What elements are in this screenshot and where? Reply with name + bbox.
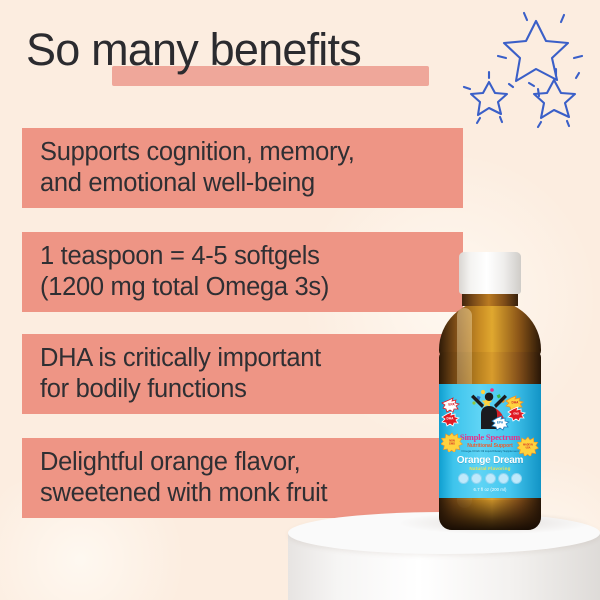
svg-text:EPA: EPA — [497, 421, 504, 425]
star-large-icon — [498, 13, 582, 96]
svg-text:DHA: DHA — [512, 401, 520, 405]
product-label: EPA DHA DHA OM3 — [439, 384, 541, 498]
benefit-band: 1 teaspoon = 4-5 softgels (1200 mg total… — [22, 232, 463, 312]
seal-non-gmo-icon: NON GMO — [441, 432, 463, 452]
svg-text:EPA: EPA — [448, 403, 455, 407]
star-small-right-icon — [529, 69, 579, 127]
svg-text:OM3: OM3 — [513, 412, 519, 416]
benefit-text: Delightful orange flavor, sweetened with… — [40, 447, 463, 509]
benefit-band: DHA is critically important for bodily f… — [22, 334, 463, 414]
svg-text:GMO: GMO — [449, 443, 455, 446]
cert-icon-dairy-free — [485, 473, 496, 484]
title-text: So many benefits — [26, 20, 361, 80]
cert-icon-gluten-free — [458, 473, 469, 484]
bottle-bottom-shading — [439, 500, 541, 530]
benefit-text: 1 teaspoon = 4-5 softgels (1200 mg total… — [40, 241, 463, 303]
benefit-text: Supports cognition, memory, and emotiona… — [40, 137, 463, 199]
svg-text:USA: USA — [526, 447, 531, 450]
superhero-illustration: EPA DHA DHA OM3 — [439, 386, 541, 432]
benefit-band: Supports cognition, memory, and emotiona… — [22, 128, 463, 208]
cert-icon-soy-free — [498, 473, 509, 484]
label-certification-icons — [439, 473, 541, 484]
bottle-shoulder — [439, 300, 541, 360]
product-bottle: EPA DHA DHA OM3 — [437, 252, 549, 534]
benefit-band: Delightful orange flavor, sweetened with… — [22, 438, 463, 518]
benefit-text: DHA is critically important for bodily f… — [40, 343, 463, 405]
cert-icon-non-gmo — [471, 473, 482, 484]
svg-text:DHA: DHA — [447, 417, 455, 421]
page-title: So many benefits — [26, 20, 506, 92]
label-flavor-sub: Natural Flavoring — [439, 466, 541, 472]
bottle-cap — [459, 252, 521, 294]
poster-canvas: So many benefits — [0, 0, 600, 600]
label-volume: 6.7 fl oz (200 ml) — [439, 487, 541, 493]
seal-made-in-usa-icon: MADE IN USA — [517, 436, 539, 456]
badge-epa-left: EPA — [442, 398, 459, 412]
cert-icon-no-sugar — [511, 473, 522, 484]
badge-dha-left: DHA — [442, 412, 459, 426]
badge-dha-right: DHA — [506, 396, 523, 410]
svg-text:MADE IN: MADE IN — [523, 444, 533, 447]
